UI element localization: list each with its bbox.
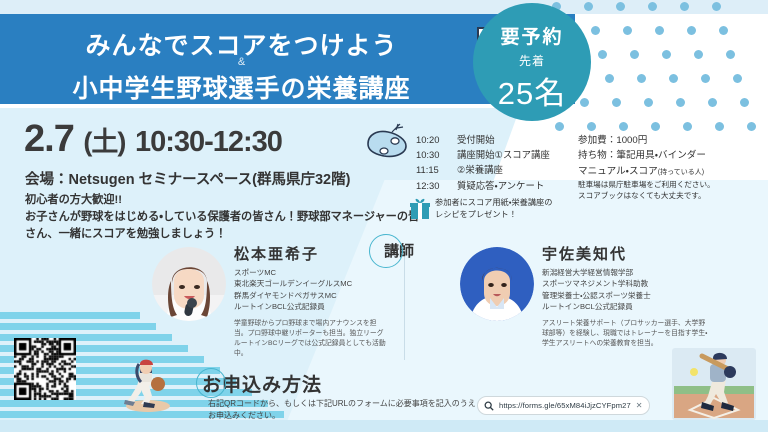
close-icon[interactable]: ✕ — [636, 401, 643, 410]
badge-line-1: 要予約 — [473, 22, 591, 49]
lead-text: 初心者の方大歓迎!! お子さんが野球をはじめる・している保護者の皆さん！野球部マ… — [25, 192, 420, 242]
speaker-card-2: 宇佐美知代 新潟経営大学経営情報学部 スポーツマネジメント学科助教 管理栄養士・… — [460, 247, 710, 349]
reservation-badge: 要予約 先着 25名 — [473, 3, 591, 121]
schedule-item: 講座開始①スコア講座 — [457, 147, 550, 162]
badge-capacity: 25名 — [473, 68, 591, 113]
speaker-credentials: スポーツMC 東北楽天ゴールデンイーグルスMC 群馬ダイヤモンドペガサスMC ル… — [234, 267, 390, 313]
application-url-bar[interactable]: https://forms.gle/65xM84iJjzCYFpm27 ✕ — [477, 396, 650, 415]
gift-note: 参加者にスコア用紙・栄養講座のレシピをプレゼント！ — [409, 197, 553, 221]
schedule-time: 10:30 — [416, 147, 448, 162]
schedule-item: 質疑応答・アンケート — [457, 178, 544, 193]
schedule-row: 11:15②栄養講座 — [416, 162, 550, 177]
apply-section-title: お申込み方法 — [202, 370, 322, 397]
title-line-2: 小中学生野球選手の栄養講座 — [0, 69, 483, 105]
flyer-page: みんなでスコアをつけよう & 小中学生野球選手の栄養講座 要予約 先着 25名 … — [0, 0, 768, 432]
venue-text: 会場：Netsugen セミナースペース(群馬県庁32階) — [25, 168, 350, 189]
scorebook-note: スコアブックはなくても大丈夫です。 — [578, 190, 715, 201]
event-date-time: 2.7 (土) 10:30-12:30 — [24, 120, 282, 158]
title-ampersand: & — [0, 56, 483, 68]
gift-text: 参加者にスコア用紙・栄養講座のレシピをプレゼント！ — [435, 197, 553, 221]
speaker-name: 松本亜希子 — [234, 247, 390, 264]
fee-text: 参加費：1000円 — [578, 133, 715, 148]
apply-description: 右記QRコードから、もしくは下記URLのフォームに必要事項を記入のうえお申込みく… — [208, 398, 478, 423]
schedule-list: 10:20受付開始10:30講座開始①スコア講座11:15②栄養講座12:30質… — [416, 132, 550, 193]
schedule-item: ②栄養講座 — [457, 162, 503, 177]
application-url-text: https://forms.gle/65xM84iJjzCYFpm27 — [499, 401, 631, 410]
section-divider — [404, 252, 405, 360]
speaker-bio: 学童野球からプロ野球まで場内アナウンスを担当。プロ野球中継リポーターも担当。独立… — [234, 319, 390, 360]
event-date: 2.7 — [24, 118, 74, 160]
bring-text-1: 持ち物：筆記用具・バインダー — [578, 148, 715, 163]
search-icon — [484, 401, 494, 411]
speakers-section-label: 講師 — [371, 236, 427, 264]
schedule-time: 10:20 — [416, 132, 448, 147]
schedule-time: 12:30 — [416, 178, 448, 193]
lead-line-1: 初心者の方大歓迎!! — [25, 192, 420, 209]
schedule-row: 10:20受付開始 — [416, 132, 550, 147]
baseball-glove-icon — [362, 122, 410, 162]
badge-line-2: 先着 — [473, 52, 591, 69]
event-weekday: (土) — [83, 127, 125, 157]
gift-box-icon — [409, 198, 431, 220]
speaker-name: 宇佐美知代 — [542, 247, 710, 264]
baseball-player-running-illustration — [115, 352, 177, 414]
schedule-row: 12:30質疑応答・アンケート — [416, 178, 550, 193]
bring-text-2: マニュアル・スコア(持っている人) — [578, 164, 715, 179]
baseball-player-batting-illustration — [672, 348, 756, 420]
parking-note: 駐車場は県庁駐車場をご利用ください。 — [578, 179, 715, 190]
speaker-photo-matsumoto — [152, 247, 226, 321]
event-time: 10:30-12:30 — [135, 126, 282, 158]
participation-info: 参加費：1000円 持ち物：筆記用具・バインダー マニュアル・スコア(持っている… — [578, 133, 715, 202]
lead-line-2: お子さんが野球をはじめる・している保護者の皆さん！野球部マネージャーの皆さん、一… — [25, 209, 420, 243]
schedule-item: 受付開始 — [457, 132, 495, 147]
schedule-row: 10:30講座開始①スコア講座 — [416, 147, 550, 162]
speaker-credentials: 新潟経営大学経営情報学部 スポーツマネジメント学科助教 管理栄養士・公認スポーツ… — [542, 267, 710, 313]
speaker-photo-usami — [460, 247, 534, 321]
speaker-bio: アスリート栄養サポート（プロサッカー選手、大学野球部等）を経験し、現職ではトレー… — [542, 319, 710, 350]
speaker-card-1: 松本亜希子 スポーツMC 東北楽天ゴールデンイーグルスMC 群馬ダイヤモンドペガ… — [152, 247, 390, 359]
qr-code[interactable] — [14, 338, 76, 400]
schedule-time: 11:15 — [416, 162, 448, 177]
